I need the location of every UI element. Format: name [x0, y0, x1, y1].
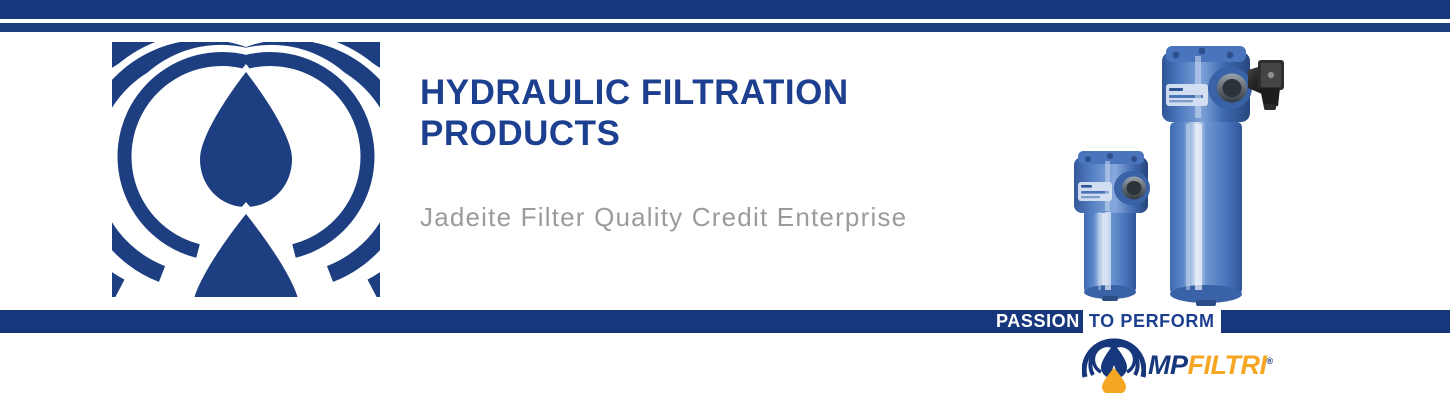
brand-name-secondary: FILTRI — [1188, 350, 1267, 380]
headline-line-1: HYDRAULIC FILTRATION — [420, 72, 1040, 113]
top-rule-thick — [0, 0, 1450, 19]
brand-wordmark: MPFILTRI® — [1148, 352, 1273, 379]
electrical-connector — [1248, 60, 1284, 110]
product-filter-housings-image — [1062, 30, 1292, 312]
bottom-rule — [0, 310, 1450, 333]
brand-logo-mpfiltri: MPFILTRI® — [1082, 337, 1262, 393]
hydraulic-filtration-banner: HYDRAULIC FILTRATION PRODUCTS Jadeite Fi… — [0, 0, 1450, 400]
company-logo-droplet-icon — [112, 42, 380, 297]
mpfiltri-droplet-icon — [1082, 337, 1146, 393]
headline-block: HYDRAULIC FILTRATION PRODUCTS Jadeite Fi… — [420, 72, 1040, 232]
brand-trademark-symbol: ® — [1266, 356, 1272, 366]
subheadline: Jadeite Filter Quality Credit Enterprise — [420, 154, 1040, 232]
tagline: PASSION TO PERFORM — [993, 310, 1221, 333]
tagline-rest: TO PERFORM — [1083, 310, 1221, 333]
headline-line-2: PRODUCTS — [420, 113, 1040, 154]
brand-name-primary: MP — [1148, 350, 1188, 380]
tagline-highlight: PASSION — [993, 310, 1083, 333]
